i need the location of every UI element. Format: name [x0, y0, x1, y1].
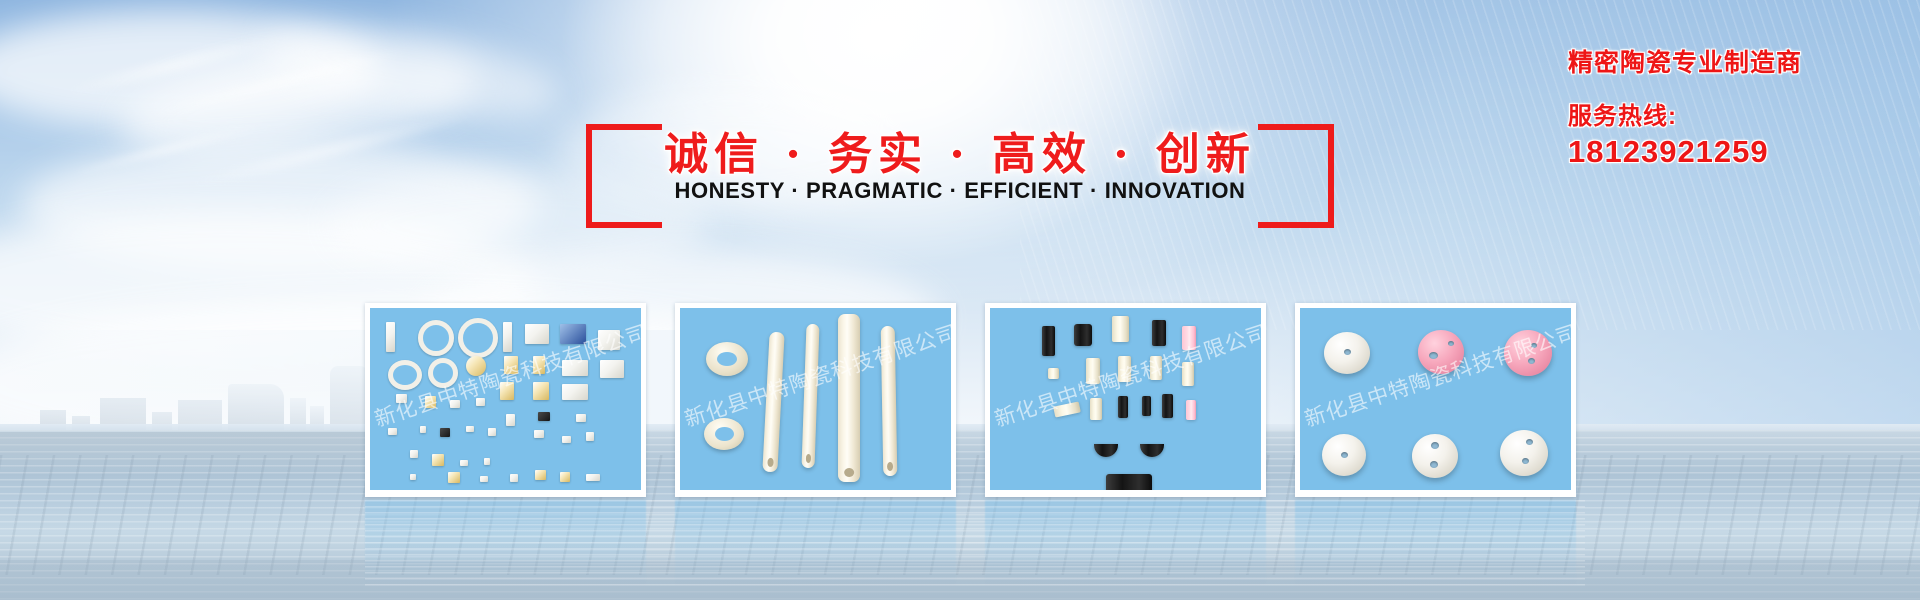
- product-card-mixed-parts[interactable]: 新化县中特陶瓷科技有限公司: [985, 303, 1266, 497]
- product-photo: 新化县中特陶瓷科技有限公司: [990, 308, 1261, 490]
- slogan-chinese: 诚信 · 务实 · 高效 · 创新: [560, 118, 1360, 182]
- slogan-block: 诚信 · 务实 · 高效 · 创新 HONESTY · PRAGMATIC · …: [560, 112, 1360, 237]
- product-card-ceramic-discs[interactable]: 新化县中特陶瓷科技有限公司: [1295, 303, 1576, 497]
- hotline-phone[interactable]: 18123921259: [1568, 135, 1908, 169]
- product-photo: 新化县中特陶瓷科技有限公司: [370, 308, 641, 490]
- bracket-right-bottom: [1258, 222, 1334, 228]
- card-reflections: [365, 500, 1585, 590]
- slogan-english: HONESTY · PRAGMATIC · EFFICIENT · INNOVA…: [560, 178, 1360, 204]
- hero-banner: 诚信 · 务实 · 高效 · 创新 HONESTY · PRAGMATIC · …: [0, 0, 1920, 600]
- company-tagline: 精密陶瓷专业制造商: [1568, 50, 1908, 78]
- product-card-row: 新化县中特陶瓷科技有限公司 新化县中特陶瓷科技有限公司: [365, 303, 1585, 499]
- hotline-label: 服务热线:: [1568, 104, 1908, 130]
- product-photo: 新化县中特陶瓷科技有限公司: [1300, 308, 1571, 490]
- product-photo: 新化县中特陶瓷科技有限公司: [680, 308, 951, 490]
- reflection-ripples: [365, 500, 1585, 590]
- bracket-left-bottom: [586, 222, 662, 228]
- product-card-ceramic-tubes[interactable]: 新化县中特陶瓷科技有限公司: [675, 303, 956, 497]
- product-card-smd-components[interactable]: 新化县中特陶瓷科技有限公司: [365, 303, 646, 497]
- contact-info-block: 精密陶瓷专业制造商 服务热线: 18123921259: [1568, 50, 1908, 169]
